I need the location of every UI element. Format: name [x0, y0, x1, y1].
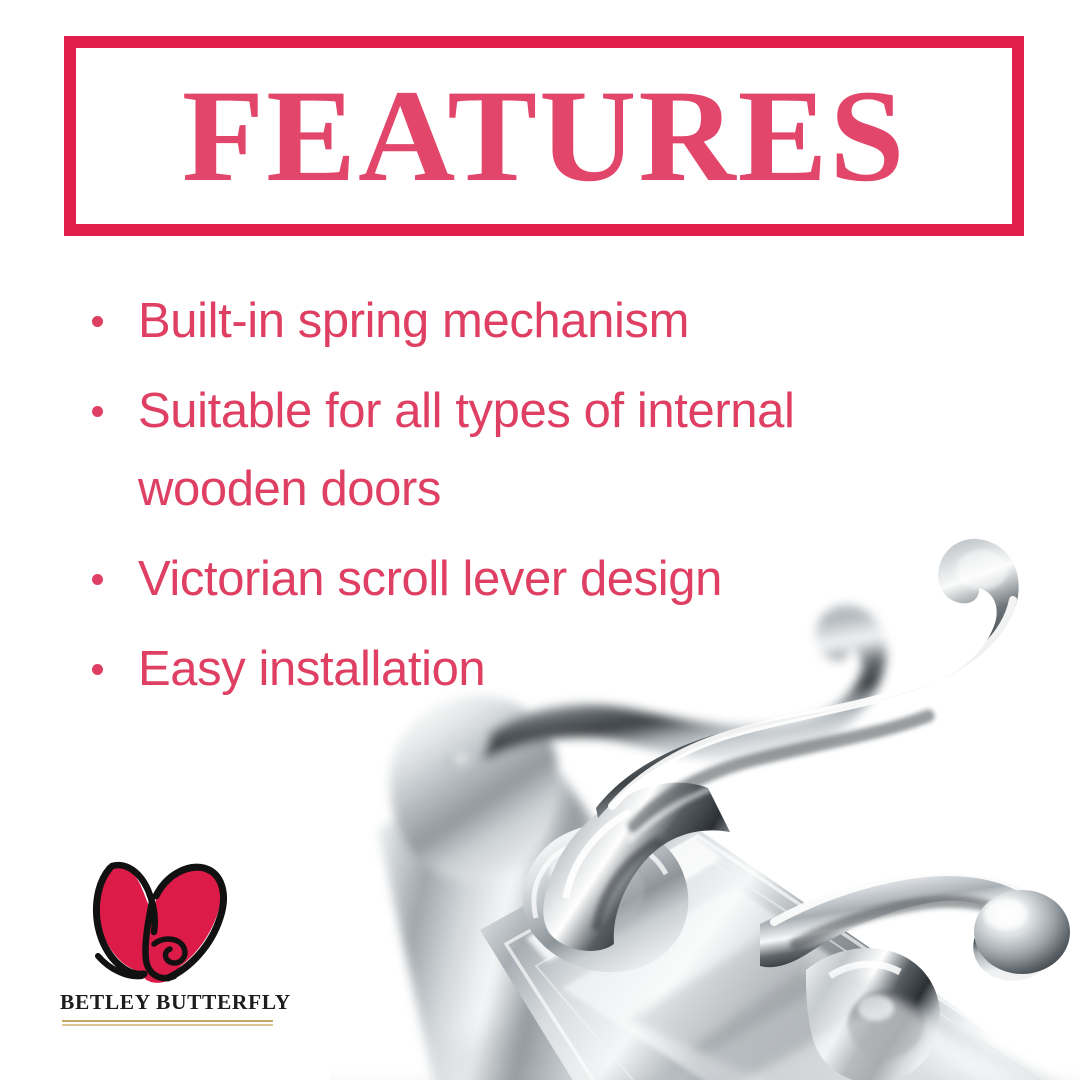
bullet-dot-icon: [92, 574, 103, 585]
list-item: Built-in spring mechanism: [78, 282, 958, 360]
page-title: FEATURES: [182, 70, 907, 202]
feature-text: Built-in spring mechanism: [138, 294, 689, 348]
brand-divider: [62, 1020, 273, 1025]
list-item: Suitable for all types of internal woode…: [78, 372, 958, 528]
brand-name: BETLEY BUTTERFLY: [60, 990, 275, 1015]
bullet-dot-icon: [92, 664, 103, 675]
bullet-dot-icon: [92, 316, 103, 327]
brand-logo: BETLEY BUTTERFLY: [60, 848, 275, 1038]
features-title-box: FEATURES: [64, 36, 1024, 236]
list-item: Easy installation: [78, 630, 958, 708]
feature-text: Suitable for all types of internal woode…: [138, 384, 794, 516]
butterfly-logo-icon: [82, 848, 237, 988]
bullet-dot-icon: [92, 406, 103, 417]
feature-card-canvas: FEATURES Built-in spring mechanism Suita…: [0, 0, 1080, 1080]
feature-text: Easy installation: [138, 642, 485, 696]
list-item: Victorian scroll lever design: [78, 540, 958, 618]
feature-text: Victorian scroll lever design: [138, 552, 722, 606]
brand-divider-line-top: [62, 1020, 273, 1022]
feature-list: Built-in spring mechanism Suitable for a…: [78, 282, 958, 720]
brand-divider-line-bottom: [62, 1024, 273, 1026]
